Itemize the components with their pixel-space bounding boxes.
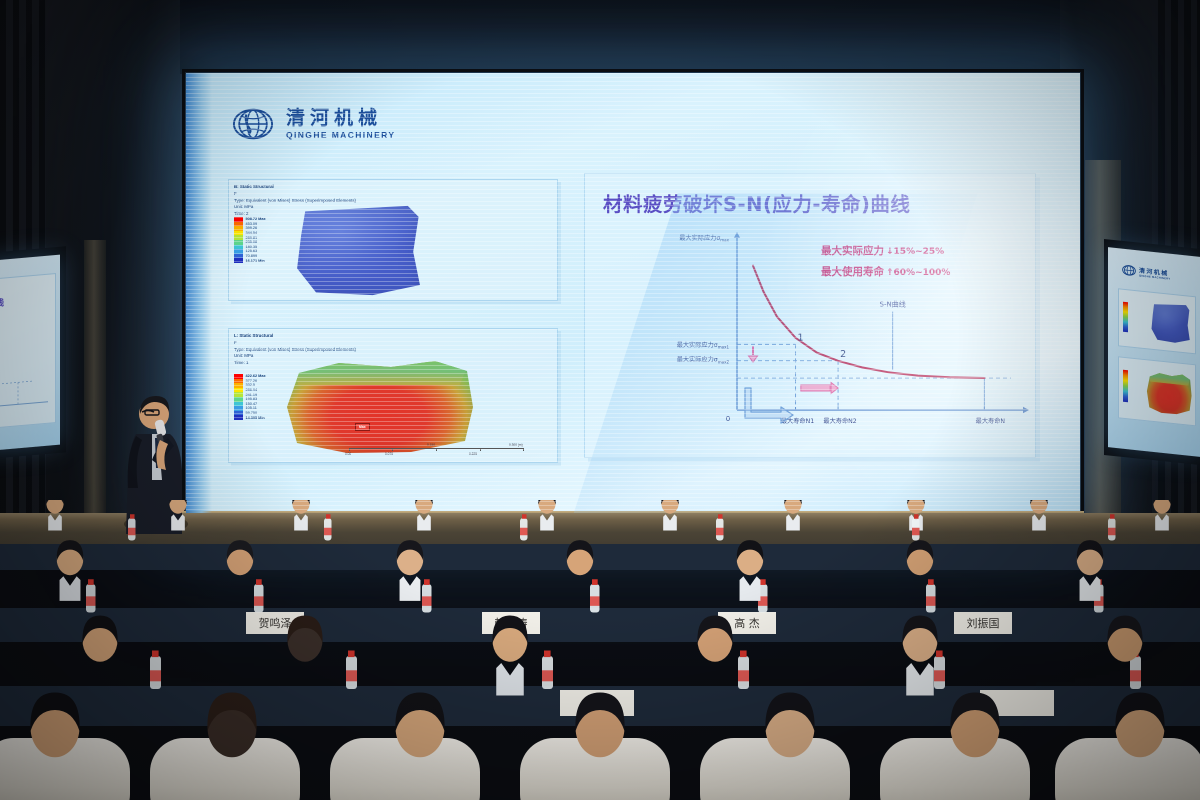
legend-value: 286.94	[246, 388, 258, 392]
legend-value: 150.47	[246, 402, 258, 406]
brand-text: 清河机械 QINGHE MACHINERY	[286, 108, 395, 140]
audience-table	[0, 544, 1200, 570]
fea-top-model	[289, 204, 424, 296]
left-monitor-mini-chart	[0, 365, 52, 416]
legend-value: 508.72 Max	[246, 217, 266, 221]
audience-person	[531, 500, 556, 530]
water-bottle	[1108, 514, 1116, 540]
presentation-slide: 清河机械 QINGHE MACHINERY B: Static Structur…	[186, 73, 1080, 513]
globe-icon	[232, 103, 274, 145]
audience-person	[1146, 500, 1171, 530]
point-label-2: 2	[840, 349, 846, 360]
left-side-monitor: 曲线	[0, 255, 60, 452]
slide-brand: 清河机械 QINGHE MACHINERY	[232, 103, 395, 145]
globe-icon-mini	[1122, 263, 1136, 278]
water-bottle	[738, 651, 749, 690]
stress-decrease-arrow-head	[749, 356, 758, 362]
right-side-monitor: 清河机械 QINGHE MACHINERY	[1108, 247, 1200, 457]
name-card: 刘振国	[954, 612, 1012, 634]
water-bottle	[324, 514, 332, 540]
legend-row: 16.171 Min	[234, 258, 266, 263]
annotation-0: 最大实际应力↓15%~25%	[821, 244, 944, 257]
water-bottle	[590, 579, 600, 612]
fea-bot-green-region	[283, 355, 475, 385]
legend-value: 59.750	[246, 411, 258, 415]
x-tick-1: 最大寿命N2	[823, 417, 856, 425]
audience-person	[777, 500, 802, 530]
y-axis-arrow	[734, 232, 740, 238]
fea-max-tag: Max	[355, 423, 370, 431]
water-bottle	[716, 514, 724, 540]
elbow-guide-arrow	[745, 388, 793, 423]
y-tick-max1: 最大实际应力σmax1	[677, 341, 730, 350]
fea-bot-model: Max	[279, 355, 479, 455]
legend-value: 422.62 Max	[246, 374, 266, 378]
legend-value: 105.11	[246, 406, 257, 410]
fea-bot-line2: F	[234, 340, 356, 347]
audience-person	[285, 500, 310, 530]
sn-curve-plot: 12最大实际应力σmax最大实际应力σmax1最大实际应力σmax20最大寿命N…	[585, 174, 1037, 459]
audience-area: 贺鸣泽韩海涛高 杰刘振国	[0, 500, 1200, 800]
legend-value: 16.171 Min	[246, 259, 265, 263]
audience-person	[654, 500, 679, 530]
legend-swatch	[234, 258, 243, 263]
fea-bot-legend: 422.62 Max377.26332.5286.94241.19195.831…	[234, 374, 266, 420]
life-increase-arrow-shaft	[801, 385, 830, 391]
water-bottle	[422, 579, 432, 612]
legend-value: 235.08	[246, 240, 258, 244]
right-monitor-brand: 清河机械 QINGHE MACHINERY	[1122, 263, 1170, 282]
right-monitor-legend-bottom	[1123, 370, 1128, 403]
life-increase-arrow-head	[831, 383, 838, 394]
fea-scale-ruler: 0.00 0.150 0.300 (m) 0.075 0.225	[349, 448, 524, 456]
audience-person	[408, 500, 433, 530]
legend-value: 344.54	[246, 231, 258, 235]
water-bottle	[934, 651, 945, 690]
legend-value: 180.35	[246, 245, 258, 249]
water-bottle	[254, 579, 264, 612]
ruler-label-3: 0.075	[385, 452, 393, 456]
water-bottle	[86, 579, 96, 612]
x-tick-2: 最大寿命N	[976, 417, 1006, 425]
water-bottle	[346, 651, 357, 690]
water-bottle	[520, 514, 528, 540]
legend-value: 289.81	[246, 236, 258, 240]
legend-value: 14.395 Min	[246, 416, 265, 420]
ruler-label-4: 0.225	[469, 452, 477, 456]
right-monitor-mesh-blue	[1149, 300, 1191, 344]
audience-person	[39, 500, 64, 530]
fea-top-title: B: Static Structural	[234, 184, 356, 191]
legend-value: 241.19	[246, 393, 258, 397]
left-monitor-text: 曲线	[0, 296, 4, 311]
legend-value: 332.5	[246, 383, 256, 387]
ceiling-area	[170, 0, 1090, 74]
right-monitor-mesh-hot	[1145, 368, 1193, 417]
right-monitor-legend-top	[1123, 302, 1128, 333]
water-bottle	[150, 651, 161, 690]
legend-row: 14.395 Min	[234, 415, 266, 420]
screen-left-glow	[186, 73, 212, 513]
svg-text:高 杰: 高 杰	[734, 616, 760, 630]
fea-panel-bottom: L: Static Structural F Type: Equivalent …	[228, 328, 558, 463]
legend-value: 70.899	[246, 254, 258, 258]
conference-photo-scene: 清河机械 QINGHE MACHINERY B: Static Structur…	[0, 0, 1200, 800]
annotation-1: 最大使用寿命↑60%~100%	[821, 265, 950, 278]
audience-person	[1023, 500, 1048, 530]
point-label-1: 1	[798, 332, 804, 343]
ruler-label-1: 0.150	[427, 443, 435, 447]
brand-name-en: QINGHE MACHINERY	[286, 130, 395, 140]
water-bottle	[128, 514, 136, 540]
legend-value: 399.26	[246, 226, 258, 230]
y-tick-max: 最大实际应力σmax	[679, 234, 729, 243]
ruler-label-2: 0.300 (m)	[509, 443, 523, 447]
chair-cover	[880, 738, 1030, 800]
water-bottle	[542, 651, 553, 690]
audience-person	[162, 500, 187, 530]
fea-top-legend: 508.72 Max453.09399.26344.54289.81235.08…	[234, 217, 266, 263]
fea-bot-title: L: Static Structural	[234, 333, 356, 340]
x-axis-arrow	[1023, 407, 1029, 413]
svg-text:贺鸣泽: 贺鸣泽	[259, 616, 292, 630]
fea-bot-type: Type: Equivalent (von Mises) Stress (Sup…	[234, 347, 356, 354]
ruler-label-0: 0.00	[345, 452, 351, 456]
sn-curve-callout: S-N曲线	[880, 299, 906, 308]
fea-top-line2: F	[234, 191, 356, 198]
brand-name-cn: 清河机械	[286, 108, 395, 130]
legend-value: 125.63	[246, 249, 258, 253]
legend-swatch	[234, 415, 243, 420]
sn-curve-chart-card: 材料疲劳破坏S-N(应力-寿命)曲线 12最大实际应力σmax最大实际应力σma…	[584, 173, 1036, 458]
svg-text:刘振国: 刘振国	[967, 616, 1000, 630]
fea-bot-mesh-hot: Max	[279, 355, 479, 455]
y-tick-max2: 最大实际应力σmax2	[677, 356, 730, 365]
left-pillar	[84, 240, 106, 540]
legend-value: 377.26	[246, 379, 258, 383]
main-led-screen: 清河机械 QINGHE MACHINERY B: Static Structur…	[186, 73, 1080, 513]
water-bottle	[926, 579, 936, 612]
legend-value: 453.09	[246, 222, 258, 226]
right-monitor-panel-bottom	[1118, 356, 1196, 426]
fea-panel-top: B: Static Structural F Type: Equivalent …	[228, 179, 558, 301]
x-origin-label: 0	[726, 415, 730, 423]
legend-value: 195.83	[246, 397, 258, 401]
fea-top-mesh-blue	[289, 204, 424, 296]
audience-table	[0, 608, 1200, 642]
right-monitor-panel-top	[1118, 288, 1196, 354]
